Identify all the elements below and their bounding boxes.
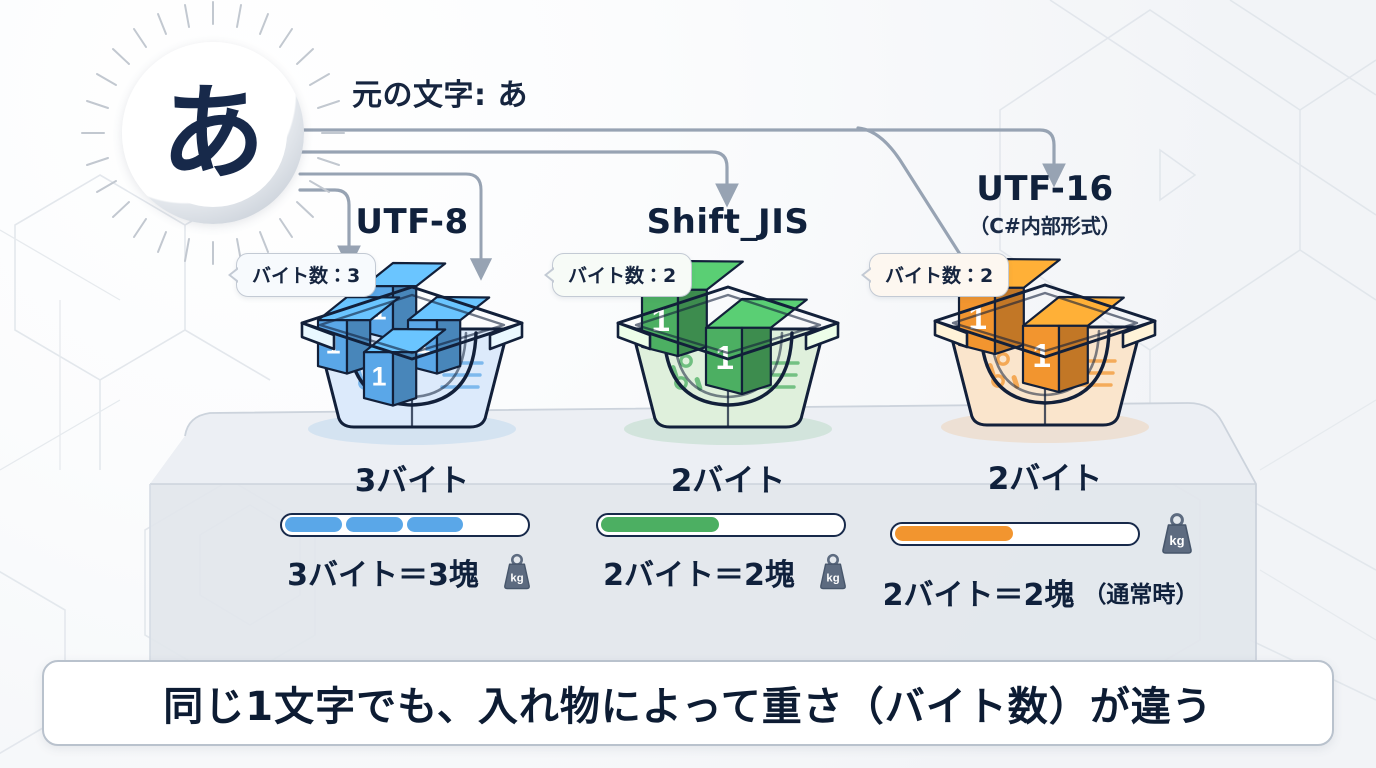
byte-progress-row: kg: [880, 511, 1210, 557]
byte-equation: 2バイト＝2塊 kg: [563, 550, 893, 594]
equation-text: 3バイト＝3塊: [287, 550, 479, 594]
equation-weight-slot: kg: [813, 552, 853, 592]
byte-count-badge: バイト数：3: [236, 253, 376, 297]
progress-segment: [285, 517, 342, 532]
byte-progress-bar: [890, 522, 1140, 546]
column-title: Shift_JIS: [563, 205, 893, 241]
encoding-column-utf16: UTF-16 （C#内部形式） 1 1: [880, 172, 1210, 614]
summary-banner: 同じ1文字でも、入れ物によって重さ（バイト数）が違う: [42, 660, 1334, 746]
kg-weight-icon: kg: [497, 552, 537, 592]
byte-count-label: 2バイト: [563, 455, 893, 500]
byte-progress-row: [563, 513, 893, 537]
equation-text: 2バイト＝2塊: [883, 570, 1075, 614]
byte-progress-bar: [596, 513, 846, 537]
byte-progress-bar: [280, 513, 530, 537]
svg-text:kg: kg: [510, 572, 523, 584]
summary-banner-text: 同じ1文字でも、入れ物によって重さ（バイト数）が違う: [163, 674, 1212, 732]
svg-text:1: 1: [372, 361, 387, 391]
byte-equation: 2バイト＝2塊 （通常時）: [880, 570, 1210, 614]
svg-text:kg: kg: [1169, 533, 1184, 548]
kg-weight-icon: kg: [1154, 511, 1200, 557]
byte-count-badge: バイト数：2: [552, 253, 692, 297]
kg-weight-icon: kg: [813, 552, 853, 592]
equation-text: 2バイト＝2塊: [603, 550, 795, 594]
progress-segment: [407, 517, 464, 532]
progress-segment: [346, 517, 403, 532]
equation-weight-slot: kg: [497, 552, 537, 592]
source-glyph: あ: [161, 81, 265, 185]
byte-progress-row: [247, 513, 577, 537]
source-character-circle: あ: [122, 42, 304, 224]
byte-count-label: 2バイト: [880, 453, 1210, 498]
column-subtitle: （C#内部形式）: [880, 210, 1210, 239]
byte-count-label: 3バイト: [247, 455, 577, 500]
infographic-canvas: あ 元の文字: あ UTF-8 1: [0, 0, 1376, 768]
character-inner-disc: あ: [139, 59, 287, 207]
progress-segment: [895, 526, 1013, 541]
byte-equation: 3バイト＝3塊 kg: [247, 550, 577, 594]
byte-count-badge: バイト数：2: [869, 253, 1009, 297]
bar-weight-slot: kg: [1154, 511, 1200, 557]
column-title: UTF-16: [880, 172, 1210, 208]
column-title: UTF-8: [247, 205, 577, 241]
svg-text:kg: kg: [826, 572, 839, 584]
equation-suffix: （通常時）: [1083, 575, 1198, 609]
source-character-label: 元の文字: あ: [352, 70, 528, 114]
progress-segment: [601, 517, 719, 532]
